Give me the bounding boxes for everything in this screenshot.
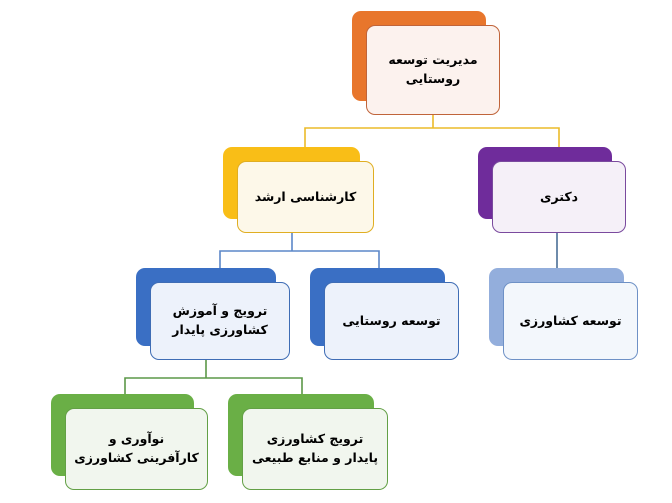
node-agricultural-development[interactable]: توسعه کشاورزی	[489, 268, 638, 360]
node-sustainable-agriculture-natural-resources[interactable]: ترویج کشاورزی پایدار و منابع طبیعی	[228, 394, 388, 490]
node-card-root[interactable]: مدیریت توسعه روستایی	[366, 25, 500, 115]
node-card-phd[interactable]: دکتری	[492, 161, 626, 233]
node-card-sustainable-agriculture-natural-resources[interactable]: ترویج کشاورزی پایدار و منابع طبیعی	[242, 408, 388, 490]
node-masters[interactable]: کارشناسی ارشد	[223, 147, 374, 233]
node-card-rural-development[interactable]: توسعه روستایی	[324, 282, 459, 360]
node-innovation-entrepreneurship[interactable]: نوآوری و کارآفرینی کشاورزی	[51, 394, 208, 490]
node-label-rural-development: توسعه روستایی	[325, 312, 458, 331]
node-root[interactable]: مدیریت توسعه روستایی	[352, 11, 500, 115]
node-card-extension-education[interactable]: ترویج و آموزش کشاورزی پایدار	[150, 282, 290, 360]
node-card-agricultural-development[interactable]: توسعه کشاورزی	[503, 282, 638, 360]
node-label-root: مدیریت توسعه روستایی	[367, 51, 499, 89]
node-label-agricultural-development: توسعه کشاورزی	[504, 312, 637, 331]
node-rural-development[interactable]: توسعه روستایی	[310, 268, 459, 360]
node-card-innovation-entrepreneurship[interactable]: نوآوری و کارآفرینی کشاورزی	[65, 408, 208, 490]
node-label-sustainable-agriculture-natural-resources: ترویج کشاورزی پایدار و منابع طبیعی	[243, 430, 387, 468]
node-label-phd: دکتری	[493, 188, 625, 207]
node-label-innovation-entrepreneurship: نوآوری و کارآفرینی کشاورزی	[66, 430, 207, 468]
node-phd[interactable]: دکتری	[478, 147, 626, 233]
node-extension-education[interactable]: ترویج و آموزش کشاورزی پایدار	[136, 268, 290, 360]
node-card-masters[interactable]: کارشناسی ارشد	[237, 161, 374, 233]
org-chart-canvas: مدیریت توسعه روستاییکارشناسی ارشددکتریتر…	[0, 0, 672, 503]
node-label-extension-education: ترویج و آموزش کشاورزی پایدار	[151, 302, 289, 340]
node-label-masters: کارشناسی ارشد	[238, 188, 373, 207]
